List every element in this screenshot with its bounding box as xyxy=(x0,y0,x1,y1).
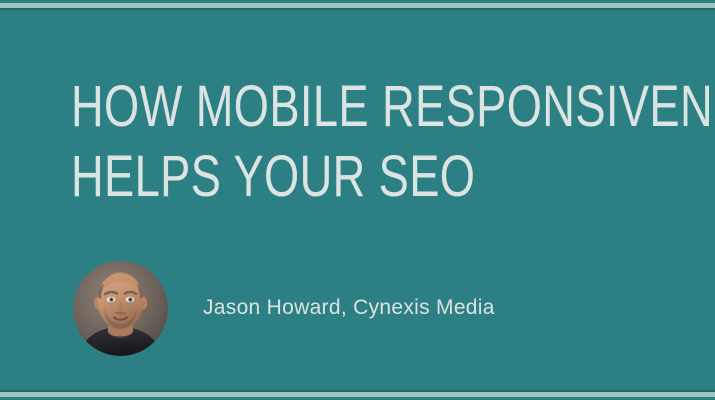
bottom-band-light xyxy=(0,392,715,397)
avatar xyxy=(73,261,168,356)
top-band-light xyxy=(0,3,715,8)
author-name-label: Jason Howard, Cynexis Media xyxy=(203,296,495,320)
slide-canvas: How Mobile Responsiveness Helps Your SEO xyxy=(0,0,715,400)
top-band-shadow xyxy=(0,8,715,10)
bottom-band-shadow xyxy=(0,390,715,392)
byline: Jason Howard, Cynexis Media xyxy=(73,260,495,356)
top-divider-band xyxy=(0,0,715,10)
title-line-2: Helps Your SEO xyxy=(71,142,555,212)
title-line-1: How Mobile Responsiveness xyxy=(71,72,555,142)
bottom-divider-band xyxy=(0,390,715,400)
top-band-outer xyxy=(0,0,715,3)
avatar-portrait-icon xyxy=(73,261,168,356)
page-title: How Mobile Responsiveness Helps Your SEO xyxy=(71,72,691,212)
